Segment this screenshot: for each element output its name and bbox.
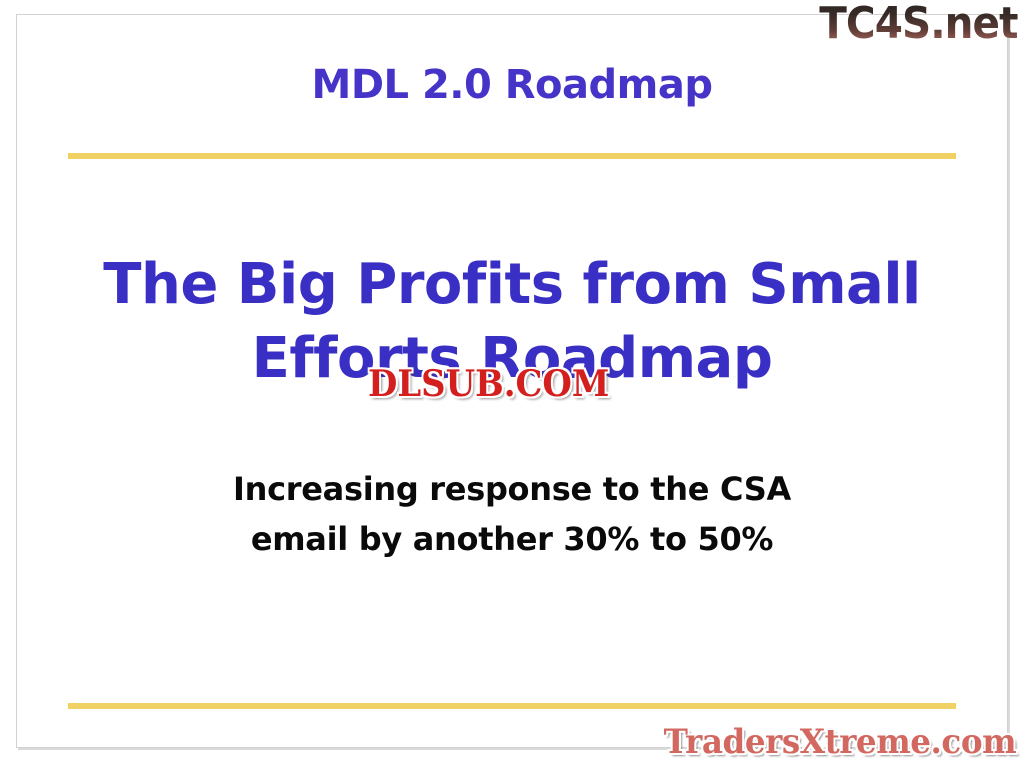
subheadline-line-1: Increasing response to the CSA bbox=[0, 464, 1024, 514]
headline-line-1: The Big Profits from Small bbox=[0, 248, 1024, 322]
subheadline: Increasing response to the CSA email by … bbox=[0, 464, 1024, 564]
watermark-tradersxtreme: TradersXtreme.com bbox=[664, 722, 1016, 762]
watermark-dlsub: DLSUB.COM bbox=[368, 363, 609, 405]
subheadline-line-2: email by another 30% to 50% bbox=[0, 514, 1024, 564]
divider-rule-top bbox=[68, 153, 956, 159]
page-title: MDL 2.0 Roadmap bbox=[0, 62, 1024, 108]
watermark-tc4s: TC4S.net bbox=[820, 0, 1018, 49]
slide-canvas: MDL 2.0 Roadmap The Big Profits from Sma… bbox=[0, 0, 1024, 768]
divider-rule-bottom bbox=[68, 703, 956, 709]
